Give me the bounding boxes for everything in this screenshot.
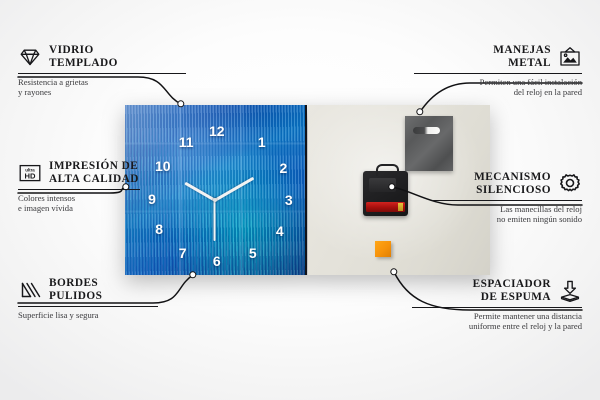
ultra-hd-icon: ultra HD — [18, 161, 42, 185]
callout-title-line1: ESPACIADOR — [473, 278, 551, 291]
callout-title-line2: SILENCIOSO — [474, 184, 551, 197]
foam-spacer-icon — [558, 279, 582, 303]
callout-subtitle-line2: e imagen vívida — [18, 203, 140, 213]
callout-subtitle-line1: Permite mantener una distancia — [412, 311, 582, 321]
callout-divider — [412, 307, 582, 308]
svg-text:HD: HD — [25, 171, 36, 180]
callout-subtitle-line2: del reloj en la pared — [414, 87, 582, 97]
callout-title-line1: MECANISMO — [474, 171, 551, 184]
callout-subtitle-line1: Colores intensos — [18, 193, 140, 203]
callout-subtitle-line2: y rayones — [18, 87, 186, 97]
callout-subtitle-line1: Superficie lisa y segura — [18, 310, 158, 320]
callout-title-line1: IMPRESIÓN DE — [49, 160, 139, 173]
callout-title-line2: PULIDOS — [49, 290, 102, 303]
callout-title-line2: METAL — [493, 57, 551, 70]
callout-title-line2: DE ESPUMA — [473, 291, 551, 304]
callout-mecanismo-silencioso[interactable]: MECANISMO SILENCIOSO Las manecillas del … — [432, 171, 582, 225]
picture-frame-icon — [558, 45, 582, 69]
callout-impresion-alta-calidad[interactable]: ultra HD IMPRESIÓN DE ALTA CALIDAD Color… — [18, 160, 140, 214]
callout-title-line1: VIDRIO — [49, 44, 118, 57]
callout-vidrio-templado[interactable]: VIDRIO TEMPLADO Resistencia a grietas y … — [18, 44, 186, 98]
callout-bordes-pulidos[interactable]: BORDES PULIDOS Superficie lisa y segura — [18, 277, 158, 320]
callout-espaciador-espuma[interactable]: ESPACIADOR DE ESPUMA Permite mantener un… — [412, 278, 582, 332]
callout-title-line1: MANEJAS — [493, 44, 551, 57]
callout-divider — [18, 73, 186, 74]
callout-divider — [432, 200, 582, 201]
callout-divider — [414, 73, 582, 74]
callout-divider — [18, 189, 140, 190]
callout-subtitle-line2: no emiten ningún sonido — [432, 214, 582, 224]
callout-title-line1: BORDES — [49, 277, 102, 290]
polished-edges-icon — [18, 278, 42, 302]
callout-title-line2: ALTA CALIDAD — [49, 173, 139, 186]
callout-subtitle-line1: Permiten una fácil instalación — [414, 77, 582, 87]
diamond-icon — [18, 45, 42, 69]
infographic-stage: 12 1 2 3 4 5 6 7 8 9 10 11 — [0, 0, 600, 400]
callout-subtitle-line1: Las manecillas del reloj — [432, 204, 582, 214]
gear-icon — [558, 172, 582, 196]
callout-manejas-metal[interactable]: MANEJAS METAL Permiten una fácil instala… — [414, 44, 582, 98]
callout-subtitle-line2: uniforme entre el reloj y la pared — [412, 321, 582, 331]
callout-subtitle-line1: Resistencia a grietas — [18, 77, 186, 87]
callout-divider — [18, 306, 158, 307]
callout-title-line2: TEMPLADO — [49, 57, 118, 70]
